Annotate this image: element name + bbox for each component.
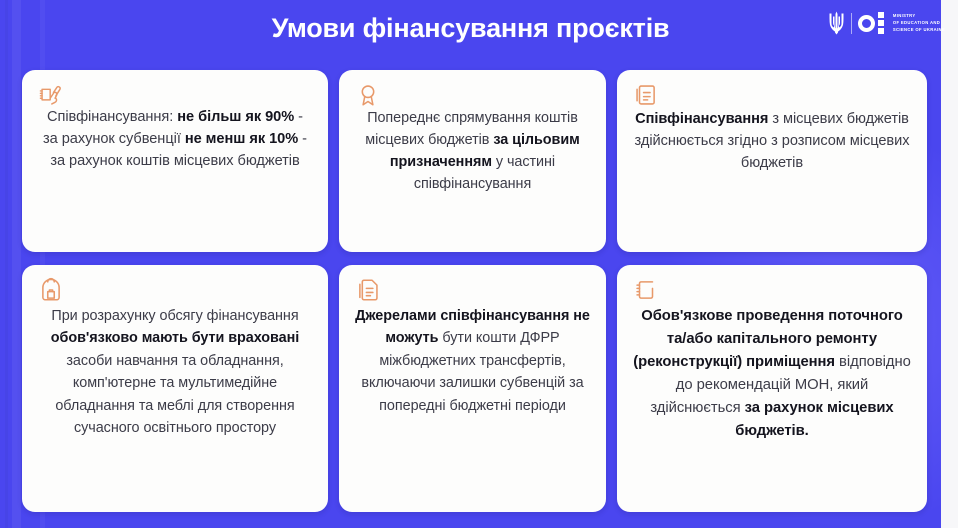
- condition-card: Попереднє спрямування коштів місцевих бю…: [339, 70, 606, 252]
- card-text: Джерелами співфінансування не можуть бут…: [353, 305, 592, 417]
- logo-square-1: [878, 12, 884, 18]
- slide-right-margin: [941, 0, 958, 528]
- condition-card: При розрахунку обсягу фінансування обов'…: [22, 265, 328, 512]
- card-body: Попереднє спрямування коштів місцевих бю…: [353, 106, 592, 242]
- card-body: Обов'язкове проведення поточного та/або …: [631, 301, 913, 502]
- document-page-icon: [355, 277, 381, 303]
- condition-card: Джерелами співфінансування не можуть бут…: [339, 265, 606, 512]
- logo-ring-shape: [858, 15, 875, 32]
- document-lines-icon: [633, 82, 659, 108]
- presentation-slide: Умови фінансування проєктів MINISTRY OF …: [0, 0, 958, 528]
- card-text: Співфінансування: не більш як 90% - за р…: [36, 106, 314, 173]
- backpack-icon: [38, 277, 64, 303]
- slide-header: Умови фінансування проєктів: [0, 0, 941, 56]
- logo-square-3: [878, 28, 884, 34]
- spiral-notebook-icon: [633, 277, 659, 303]
- ministry-logo: MINISTRY OF EDUCATION AND SCIENCE OF UKR…: [828, 8, 945, 38]
- hand-writing-notepad-icon: [38, 82, 64, 108]
- logo-line-3: SCIENCE OF UKRAINE: [893, 27, 945, 33]
- card-body: При розрахунку обсягу фінансування обов'…: [36, 301, 314, 502]
- card-body: Співфінансування: не більш як 90% - за р…: [36, 106, 314, 242]
- condition-card: Співфінансування: не більш як 90% - за р…: [22, 70, 328, 252]
- card-text: При розрахунку обсягу фінансування обов'…: [36, 305, 314, 440]
- card-text: Співфінансування з місцевих бюджетів зді…: [631, 108, 913, 175]
- card-text: Обов'язкове проведення поточного та/або …: [631, 305, 913, 443]
- logo-divider: [851, 13, 852, 34]
- ukraine-trident-icon: [828, 11, 845, 35]
- conditions-card-grid: Співфінансування: не більш як 90% - за р…: [22, 70, 922, 512]
- logo-square-stack: [878, 12, 884, 34]
- ring-and-squares-logo-icon: [858, 12, 884, 34]
- award-medal-icon: [355, 82, 381, 108]
- logo-square-2: [878, 20, 884, 26]
- ministry-logo-text: MINISTRY OF EDUCATION AND SCIENCE OF UKR…: [893, 13, 945, 32]
- card-text: Попереднє спрямування коштів місцевих бю…: [353, 108, 592, 196]
- logo-line-1: MINISTRY: [893, 13, 945, 19]
- card-body: Співфінансування з місцевих бюджетів зді…: [631, 106, 913, 242]
- card-body: Джерелами співфінансування не можуть бут…: [353, 301, 592, 502]
- condition-card: Обов'язкове проведення поточного та/або …: [617, 265, 927, 512]
- logo-line-2: OF EDUCATION AND: [893, 20, 945, 26]
- condition-card: Співфінансування з місцевих бюджетів зді…: [617, 70, 927, 252]
- slide-title: Умови фінансування проєктів: [272, 15, 670, 42]
